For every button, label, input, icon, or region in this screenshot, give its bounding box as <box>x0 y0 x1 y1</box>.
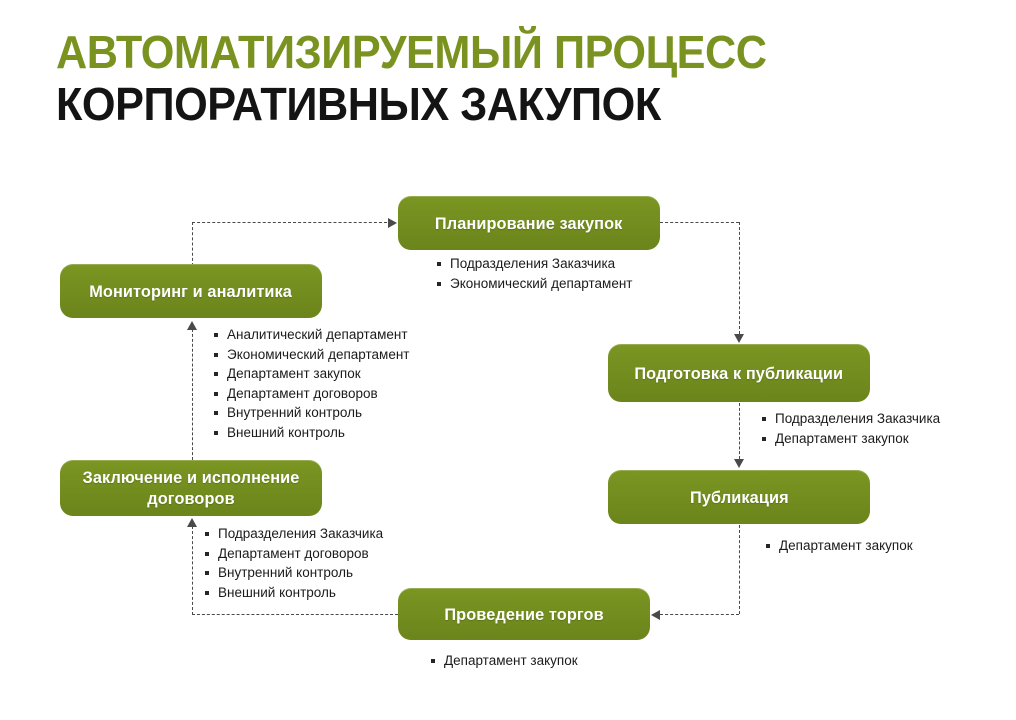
list-item: Внутренний контроль <box>214 403 409 423</box>
participants-publication: Департамент закупок <box>766 536 913 556</box>
node-bidding-label: Проведение торгов <box>444 604 603 625</box>
node-bidding[interactable]: Проведение торгов <box>398 588 650 640</box>
list-item: Подразделения Заказчика <box>762 409 940 429</box>
list-item: Экономический департамент <box>437 274 632 294</box>
list-item: Департамент договоров <box>214 384 409 404</box>
edge-publication-bidding-horizontal <box>660 614 739 615</box>
edge-bidding-contracts-horizontal <box>192 614 398 615</box>
edge-planning-preparation-horizontal <box>660 222 739 223</box>
list-item: Подразделения Заказчика <box>205 524 383 544</box>
edge-preparation-publication-arrowhead <box>734 459 744 468</box>
page-title-line-2: КОРПОРАТИВНЫХ ЗАКУПОК <box>56 78 902 130</box>
list-item: Экономический департамент <box>214 345 409 365</box>
node-publication[interactable]: Публикация <box>608 470 870 524</box>
list-item: Внешний контроль <box>214 423 409 443</box>
node-monitoring-label: Мониторинг и аналитика <box>90 281 293 302</box>
edge-publication-bidding-vertical <box>739 525 740 614</box>
list-item: Департамент закупок <box>762 429 940 449</box>
node-preparation-label: Подготовка к публикации <box>635 363 844 384</box>
edge-contracts-monitoring-vertical <box>192 329 193 460</box>
node-planning[interactable]: Планирование закупок <box>398 196 660 250</box>
list-item: Департамент договоров <box>205 544 383 564</box>
edge-planning-preparation-vertical <box>739 222 740 334</box>
list-item: Департамент закупок <box>431 651 578 671</box>
node-planning-label: Планирование закупок <box>435 213 623 234</box>
node-contracts-label: Заключение и исполнение договоров <box>75 467 307 509</box>
node-preparation[interactable]: Подготовка к публикации <box>608 344 870 402</box>
edge-planning-preparation-arrowhead <box>734 334 744 343</box>
list-item: Подразделения Заказчика <box>437 254 632 274</box>
list-item: Аналитический департамент <box>214 325 409 345</box>
edge-monitoring-planning-horizontal <box>192 222 387 223</box>
participants-preparation: Подразделения Заказчика Департамент заку… <box>762 409 940 448</box>
node-monitoring[interactable]: Мониторинг и аналитика <box>60 264 322 318</box>
edge-monitoring-planning-vertical <box>192 222 193 266</box>
list-item: Внешний контроль <box>205 583 383 603</box>
edge-bidding-contracts-vertical <box>192 526 193 615</box>
participants-bidding: Департамент закупок <box>431 651 578 671</box>
diagram-page: АВТОМАТИЗИРУЕМЫЙ ПРОЦЕСС КОРПОРАТИВНЫХ З… <box>0 0 1016 720</box>
node-publication-label: Публикация <box>690 487 789 508</box>
edge-bidding-contracts-arrowhead <box>187 518 197 527</box>
participants-planning: Подразделения Заказчика Экономический де… <box>437 254 632 293</box>
list-item: Департамент закупок <box>766 536 913 556</box>
edge-contracts-monitoring-arrowhead <box>187 321 197 330</box>
page-title: АВТОМАТИЗИРУЕМЫЙ ПРОЦЕСС КОРПОРАТИВНЫХ З… <box>56 26 956 130</box>
edge-monitoring-planning-arrowhead <box>388 218 397 228</box>
node-contracts[interactable]: Заключение и исполнение договоров <box>60 460 322 516</box>
page-title-line-1: АВТОМАТИЗИРУЕМЫЙ ПРОЦЕСС <box>56 26 902 78</box>
list-item: Департамент закупок <box>214 364 409 384</box>
edge-publication-bidding-arrowhead <box>651 610 660 620</box>
participants-contracts: Подразделения Заказчика Департамент дого… <box>205 524 383 602</box>
edge-preparation-publication-vertical <box>739 403 740 459</box>
participants-monitoring: Аналитический департамент Экономический … <box>214 325 409 442</box>
list-item: Внутренний контроль <box>205 563 383 583</box>
